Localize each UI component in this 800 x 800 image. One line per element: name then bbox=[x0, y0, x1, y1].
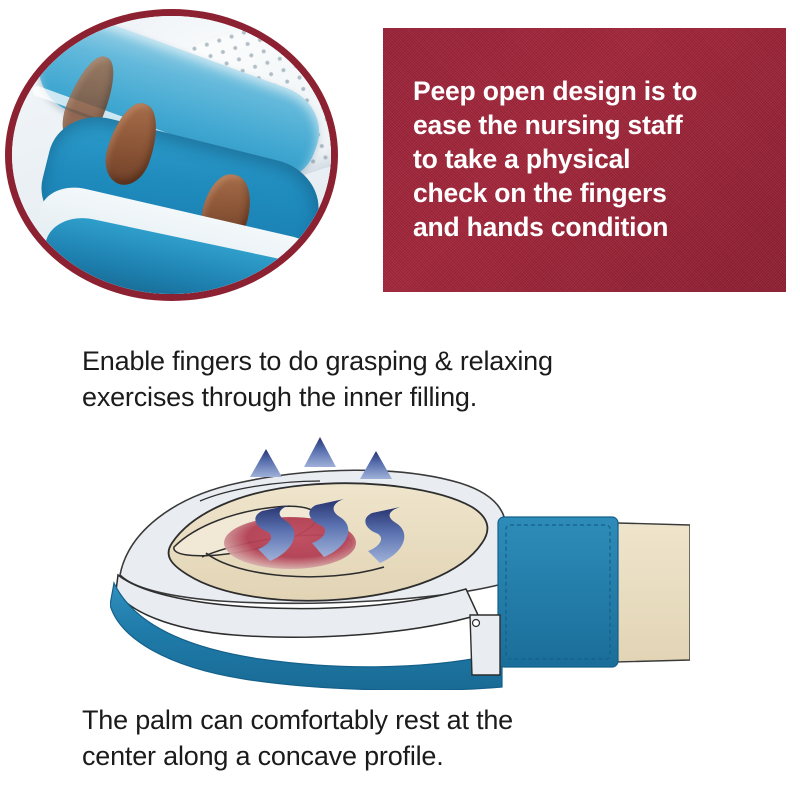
mitt-cross-section-svg bbox=[110, 425, 690, 690]
red-panel-text: Peep open design is to ease the nursing … bbox=[383, 75, 711, 245]
caption-bottom: The palm can comfortably rest at the cen… bbox=[82, 703, 742, 775]
cross-section-illustration bbox=[110, 425, 690, 690]
wrist-strap bbox=[498, 517, 618, 667]
infographic-page: Peep open design is to ease the nursing … bbox=[0, 0, 800, 800]
buckle-eyelet bbox=[473, 620, 480, 627]
red-caption-panel: Peep open design is to ease the nursing … bbox=[383, 28, 786, 292]
caption-middle: Enable fingers to do grasping & relaxing… bbox=[82, 344, 742, 416]
product-photo-circle bbox=[5, 9, 338, 301]
